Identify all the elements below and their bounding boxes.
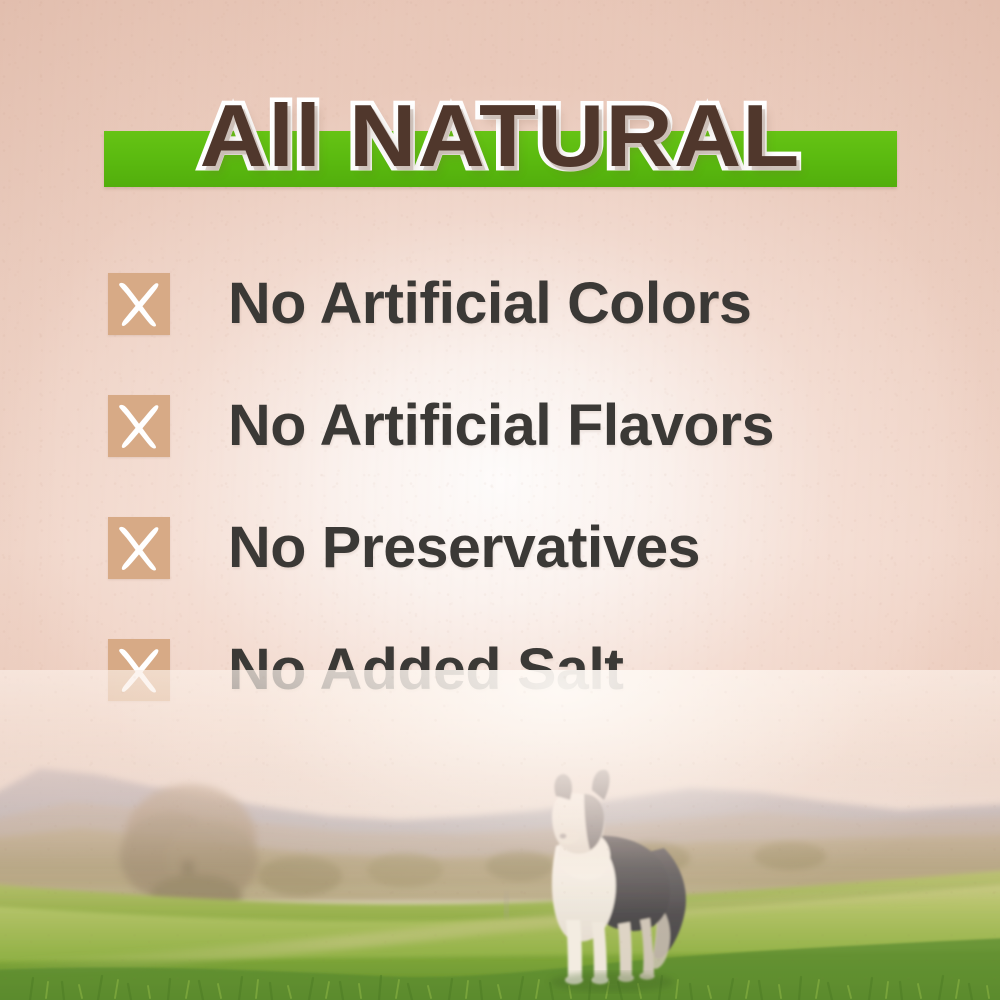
- landscape-photo: [0, 670, 1000, 1000]
- feature-label: No Artificial Flavors: [228, 397, 774, 455]
- feature-row-no-preservatives: No Preservatives: [0, 487, 1000, 609]
- feature-row-no-artificial-colors: No Artificial Colors: [0, 243, 1000, 365]
- x-mark-icon: [108, 273, 170, 335]
- all-natural-product-poster: All NATURAL No Artificial Colors No Arti…: [0, 0, 1000, 1000]
- feature-label: No Artificial Colors: [228, 275, 751, 333]
- page-title: All NATURAL: [0, 68, 1000, 203]
- header-banner: All NATURAL: [0, 68, 1000, 203]
- x-mark-icon: [108, 517, 170, 579]
- x-mark-icon: [108, 395, 170, 457]
- feature-label: No Preservatives: [228, 519, 700, 577]
- feature-row-no-artificial-flavors: No Artificial Flavors: [0, 365, 1000, 487]
- feature-list: No Artificial Colors No Artificial Flavo…: [0, 243, 1000, 731]
